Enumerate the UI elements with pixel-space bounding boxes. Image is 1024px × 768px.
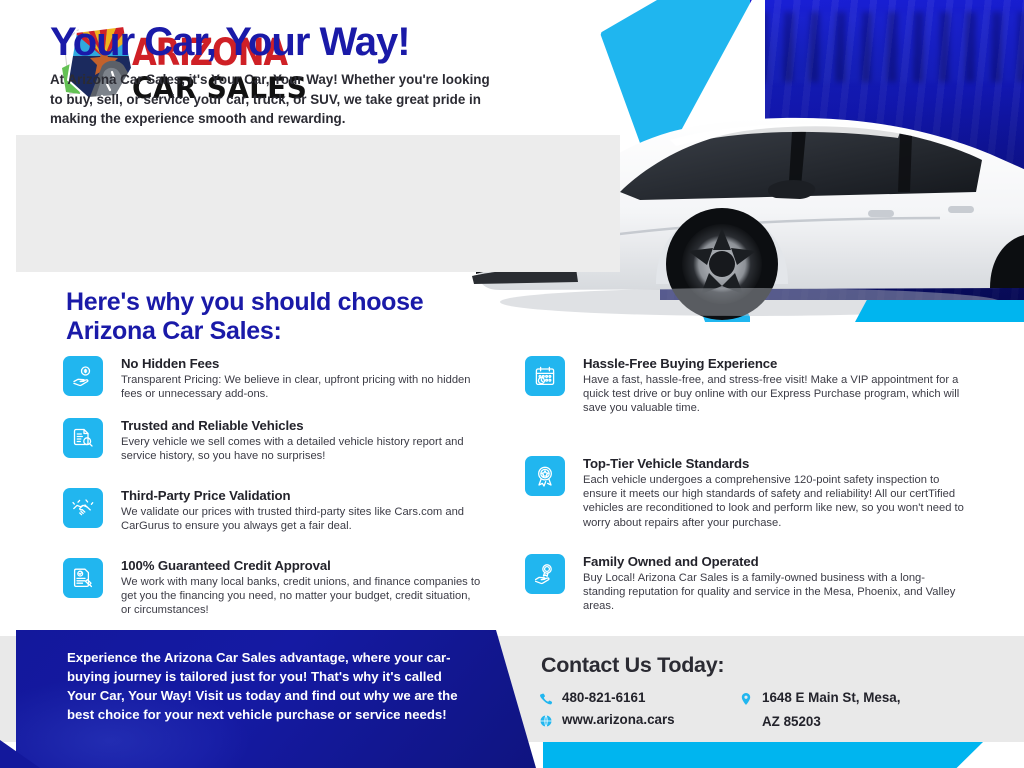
feature-hassle-free-buying: Hassle-Free Buying Experience Have a fas…	[525, 356, 965, 456]
feature-text: Hassle-Free Buying Experience Have a fas…	[583, 356, 965, 416]
feature-title: Hassle-Free Buying Experience	[583, 356, 965, 372]
feature-description: We work with many local banks, credit un…	[121, 575, 483, 618]
features-right-column: Hassle-Free Buying Experience Have a fas…	[525, 356, 965, 624]
feature-title: 100% Guaranteed Credit Approval	[121, 558, 483, 574]
contact-details: 480-821-6161 www.arizona.cars 1648 E M	[538, 690, 958, 734]
feature-third-party-price-validation: Third-Party Price Validation We validate…	[63, 488, 483, 558]
flyer-page: ARIZONA CAR SALES Your Car, Your Way! At…	[0, 0, 1024, 768]
intro-paragraph: At Arizona Car Sales, it's Your Car, You…	[50, 70, 506, 129]
page-title: Your Car, Your Way!	[50, 20, 410, 65]
feature-text: Trusted and Reliable Vehicles Every vehi…	[121, 418, 483, 463]
contact-heading: Contact Us Today:	[541, 653, 724, 678]
feature-title: No Hidden Fees	[121, 356, 483, 372]
footer-cyan-bar	[543, 742, 983, 768]
feature-title: Family Owned and Operated	[583, 554, 965, 570]
handshake-icon	[63, 488, 103, 528]
feature-title: Third-Party Price Validation	[121, 488, 483, 504]
feature-title: Top-Tier Vehicle Standards	[583, 456, 965, 472]
hand-holding-coin-icon	[63, 356, 103, 396]
feature-description: Every vehicle we sell comes with a detai…	[121, 435, 483, 463]
approved-document-stamp-icon	[63, 558, 103, 598]
phone-number: 480-821-6161	[562, 690, 645, 705]
feature-description: Transparent Pricing: We believe in clear…	[121, 373, 483, 401]
calendar-clock-icon	[525, 356, 565, 396]
feature-trusted-reliable-vehicles: Trusted and Reliable Vehicles Every vehi…	[63, 418, 483, 488]
feature-text: Family Owned and Operated Buy Local! Ari…	[583, 554, 965, 614]
feature-guaranteed-credit-approval: 100% Guaranteed Credit Approval We work …	[63, 558, 483, 628]
feature-no-hidden-fees: No Hidden Fees Transparent Pricing: We b…	[63, 356, 483, 418]
feature-text: Top-Tier Vehicle Standards Each vehicle …	[583, 456, 965, 530]
feature-description: Have a fast, hassle-free, and stress-fre…	[583, 373, 965, 416]
feature-text: 100% Guaranteed Credit Approval We work …	[121, 558, 483, 618]
feature-description: Each vehicle undergoes a comprehensive 1…	[583, 473, 965, 530]
feature-title: Trusted and Reliable Vehicles	[121, 418, 483, 434]
footer-callout-text: Experience the Arizona Car Sales advanta…	[67, 648, 467, 724]
globe-icon	[538, 713, 553, 728]
contact-address-row: 1648 E Main St, Mesa,	[738, 690, 968, 711]
feature-description: We validate our prices with trusted thir…	[121, 505, 483, 533]
hero-cyan-accent-bar	[855, 300, 1024, 322]
feature-top-tier-vehicle-standards: Top-Tier Vehicle Standards Each vehicle …	[525, 456, 965, 554]
feature-text: No Hidden Fees Transparent Pricing: We b…	[121, 356, 483, 401]
feature-description: Buy Local! Arizona Car Sales is a family…	[583, 571, 965, 614]
hand-holding-award-icon	[525, 554, 565, 594]
document-magnifier-icon	[63, 418, 103, 458]
address-line-2: AZ 85203	[762, 711, 968, 732]
address-line-1: 1648 E Main St, Mesa,	[762, 690, 900, 705]
award-star-ribbon-icon	[525, 456, 565, 496]
features-left-column: No Hidden Fees Transparent Pricing: We b…	[63, 356, 483, 628]
feature-family-owned-operated: Family Owned and Operated Buy Local! Ari…	[525, 554, 965, 624]
website-url: www.arizona.cars	[562, 712, 675, 727]
section-heading: Here's why you should choose Arizona Car…	[66, 288, 496, 346]
map-pin-icon	[738, 691, 753, 706]
feature-text: Third-Party Price Validation We validate…	[121, 488, 483, 533]
intro-band	[16, 135, 620, 272]
contact-address-block[interactable]: 1648 E Main St, Mesa, AZ 85203	[738, 690, 968, 732]
hero-white-strip	[560, 322, 1024, 344]
phone-icon	[538, 691, 553, 706]
